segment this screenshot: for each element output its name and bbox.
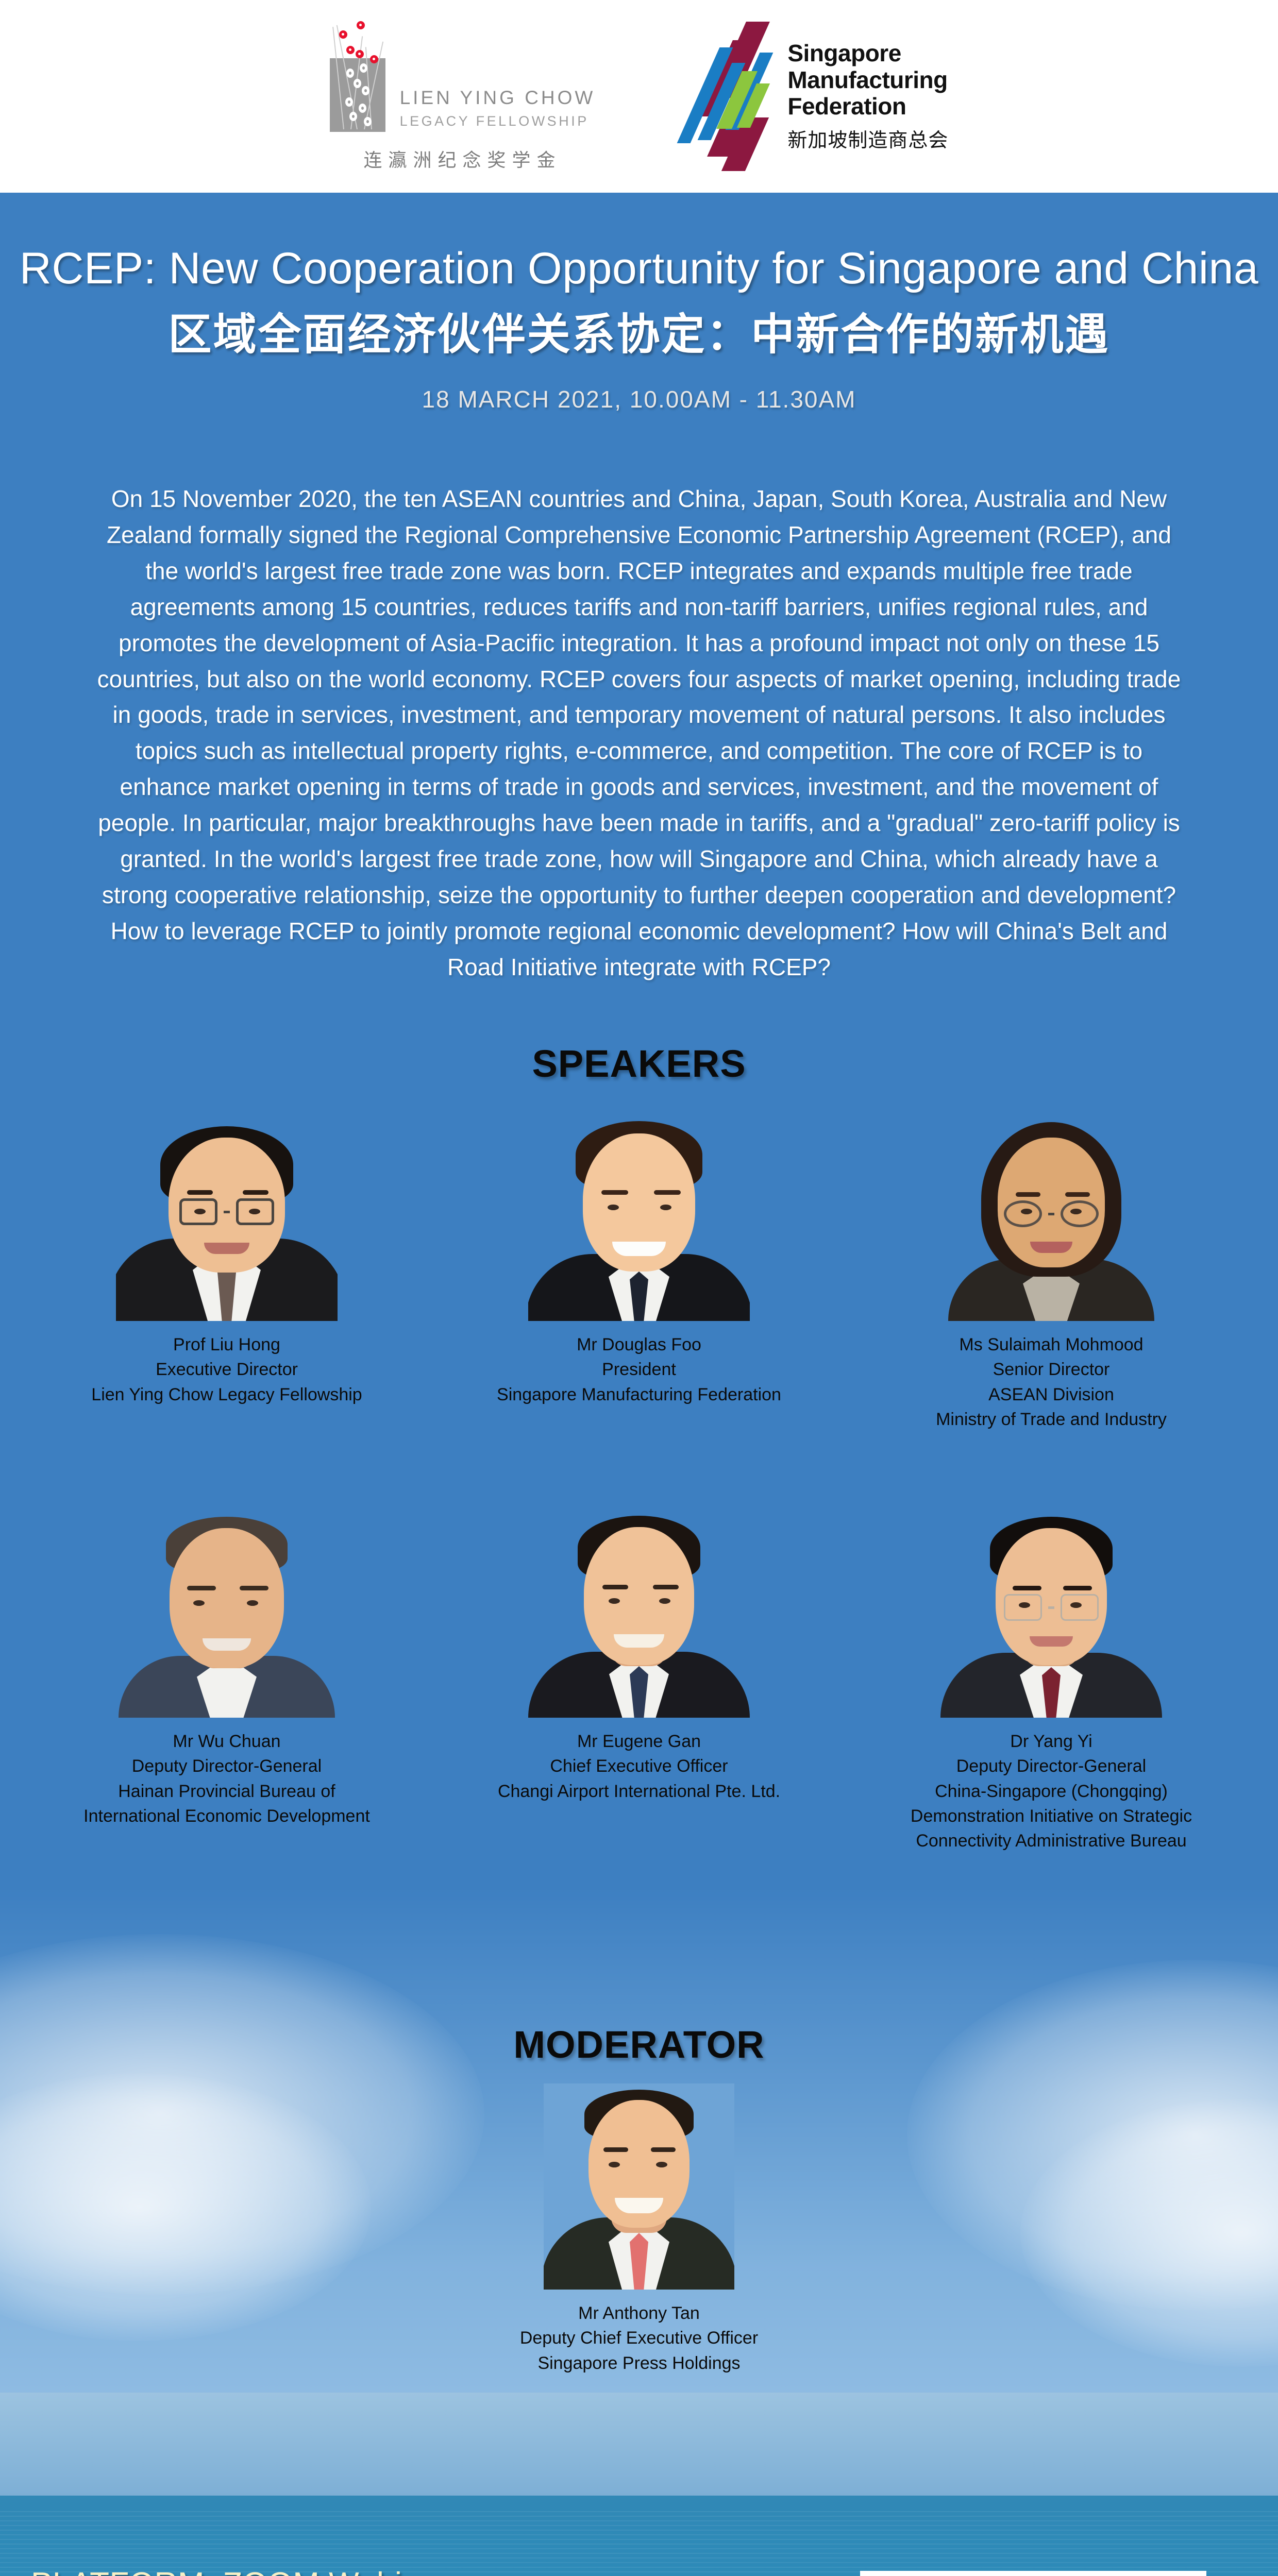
avatar [940, 1496, 1162, 1718]
speaker-org: Lien Ying Chow Legacy Fellowship [91, 1382, 362, 1407]
event-poster: LIEN YING CHOW LEGACY FELLOWSHIP 连瀛洲纪念奖学… [0, 0, 1278, 2576]
event-datetime: 18 MARCH 2021, 10.00AM - 11.30AM [0, 385, 1278, 413]
page-title: RCEP: New Cooperation Opportunity for Si… [0, 243, 1278, 294]
harbour-background-image [0, 2393, 1278, 2576]
smf-mark-icon [693, 22, 778, 171]
registration-qr-block[interactable]: REGISTRATION [855, 2571, 1211, 2576]
speaker-title: Executive Director [91, 1357, 362, 1382]
speaker-org: ASEAN Division [936, 1382, 1167, 1407]
speaker-org-2: Demonstration Initiative on Strategic [911, 1804, 1192, 1828]
moderator-row: Mr Anthony Tan Deputy Chief Executive Of… [0, 2083, 1278, 2376]
hero-section: RCEP: New Cooperation Opportunity for Si… [0, 193, 1278, 2393]
smf-word-singapore: Singapore [787, 40, 948, 67]
lyc-wordmark-line2: LEGACY FELLOWSHIP [400, 111, 596, 131]
speaker-card: Dr Yang Yi Deputy Director-General China… [845, 1496, 1257, 1853]
speaker-row-1: Prof Liu Hong Executive Director Lien Yi… [0, 1099, 1278, 1432]
moderator-name: Mr Anthony Tan [520, 2301, 758, 2326]
avatar [116, 1496, 338, 1718]
speaker-card: Mr Eugene Gan Chief Executive Officer Ch… [433, 1496, 845, 1804]
speaker-org-2: Ministry of Trade and Industry [936, 1407, 1167, 1432]
speaker-name: Dr Yang Yi [911, 1729, 1192, 1754]
speaker-name: Mr Eugene Gan [498, 1729, 780, 1754]
speaker-name: Mr Douglas Foo [497, 1332, 781, 1357]
speaker-title: Senior Director [936, 1357, 1167, 1382]
avatar [940, 1099, 1162, 1321]
platform-line: PLATFORM: ZOOM Webinar [31, 2566, 804, 2576]
speaker-card: Prof Liu Hong Executive Director Lien Yi… [21, 1099, 433, 1407]
smf-chinese-name: 新加坡制造商总会 [787, 124, 948, 152]
speaker-title: Deputy Director-General [83, 1754, 370, 1778]
smf-word-federation: Federation [787, 93, 948, 120]
speaker-name: Mr Wu Chuan [83, 1729, 370, 1754]
smf-word-manufacturing: Manufacturing [787, 67, 948, 94]
lien-ying-chow-legacy-fellowship-logo: LIEN YING CHOW LEGACY FELLOWSHIP 连瀛洲纪念奖学… [330, 21, 596, 172]
footer-info-block: PLATFORM: ZOOM Webinar LANGUAGE: English… [31, 2566, 804, 2576]
speaker-title: President [497, 1357, 781, 1382]
speaker-name: Ms Sulaimah Mohmood [936, 1332, 1167, 1357]
speaker-name: Prof Liu Hong [91, 1332, 362, 1357]
speaker-card: Mr Douglas Foo President Singapore Manuf… [433, 1099, 845, 1407]
speaker-org: Hainan Provincial Bureau of [83, 1779, 370, 1804]
speaker-org: China-Singapore (Chongqing) [911, 1779, 1192, 1804]
speaker-row-2: Mr Wu Chuan Deputy Director-General Hain… [0, 1496, 1278, 1853]
speaker-card: Ms Sulaimah Mohmood Senior Director ASEA… [845, 1099, 1257, 1432]
speaker-card: Mr Wu Chuan Deputy Director-General Hain… [21, 1496, 433, 1828]
qr-code[interactable] [860, 2571, 1206, 2576]
moderator-title: Deputy Chief Executive Officer [520, 2326, 758, 2350]
speaker-org: Changi Airport International Pte. Ltd. [498, 1779, 780, 1804]
avatar [528, 1496, 750, 1718]
speaker-title: Deputy Director-General [911, 1754, 1192, 1778]
speaker-org-3: Connectivity Administrative Bureau [911, 1828, 1192, 1853]
speaker-title: Chief Executive Officer [498, 1754, 780, 1778]
event-description: On 15 November 2020, the ten ASEAN count… [88, 481, 1190, 986]
page-title-chinese: 区域全面经济伙伴关系协定：中新合作的新机遇 [0, 300, 1278, 362]
speaker-org: Singapore Manufacturing Federation [497, 1382, 781, 1407]
logo-header: LIEN YING CHOW LEGACY FELLOWSHIP 连瀛洲纪念奖学… [0, 0, 1278, 193]
moderator-heading: MODERATOR [0, 2023, 1278, 2066]
lyc-wordmark-line1: LIEN YING CHOW [400, 84, 596, 112]
speaker-org-2: International Economic Development [83, 1804, 370, 1828]
avatar [116, 1099, 338, 1321]
lyc-mark-icon [330, 21, 385, 132]
moderator-org: Singapore Press Holdings [520, 2351, 758, 2376]
lyc-chinese-name: 连瀛洲纪念奖学金 [363, 145, 561, 172]
avatar [528, 1099, 750, 1321]
moderator-card: Mr Anthony Tan Deputy Chief Executive Of… [433, 2083, 845, 2376]
singapore-manufacturing-federation-logo: Singapore Manufacturing Federation 新加坡制造… [693, 22, 948, 171]
speakers-heading: SPEAKERS [0, 1042, 1278, 1086]
avatar [544, 2083, 734, 2290]
